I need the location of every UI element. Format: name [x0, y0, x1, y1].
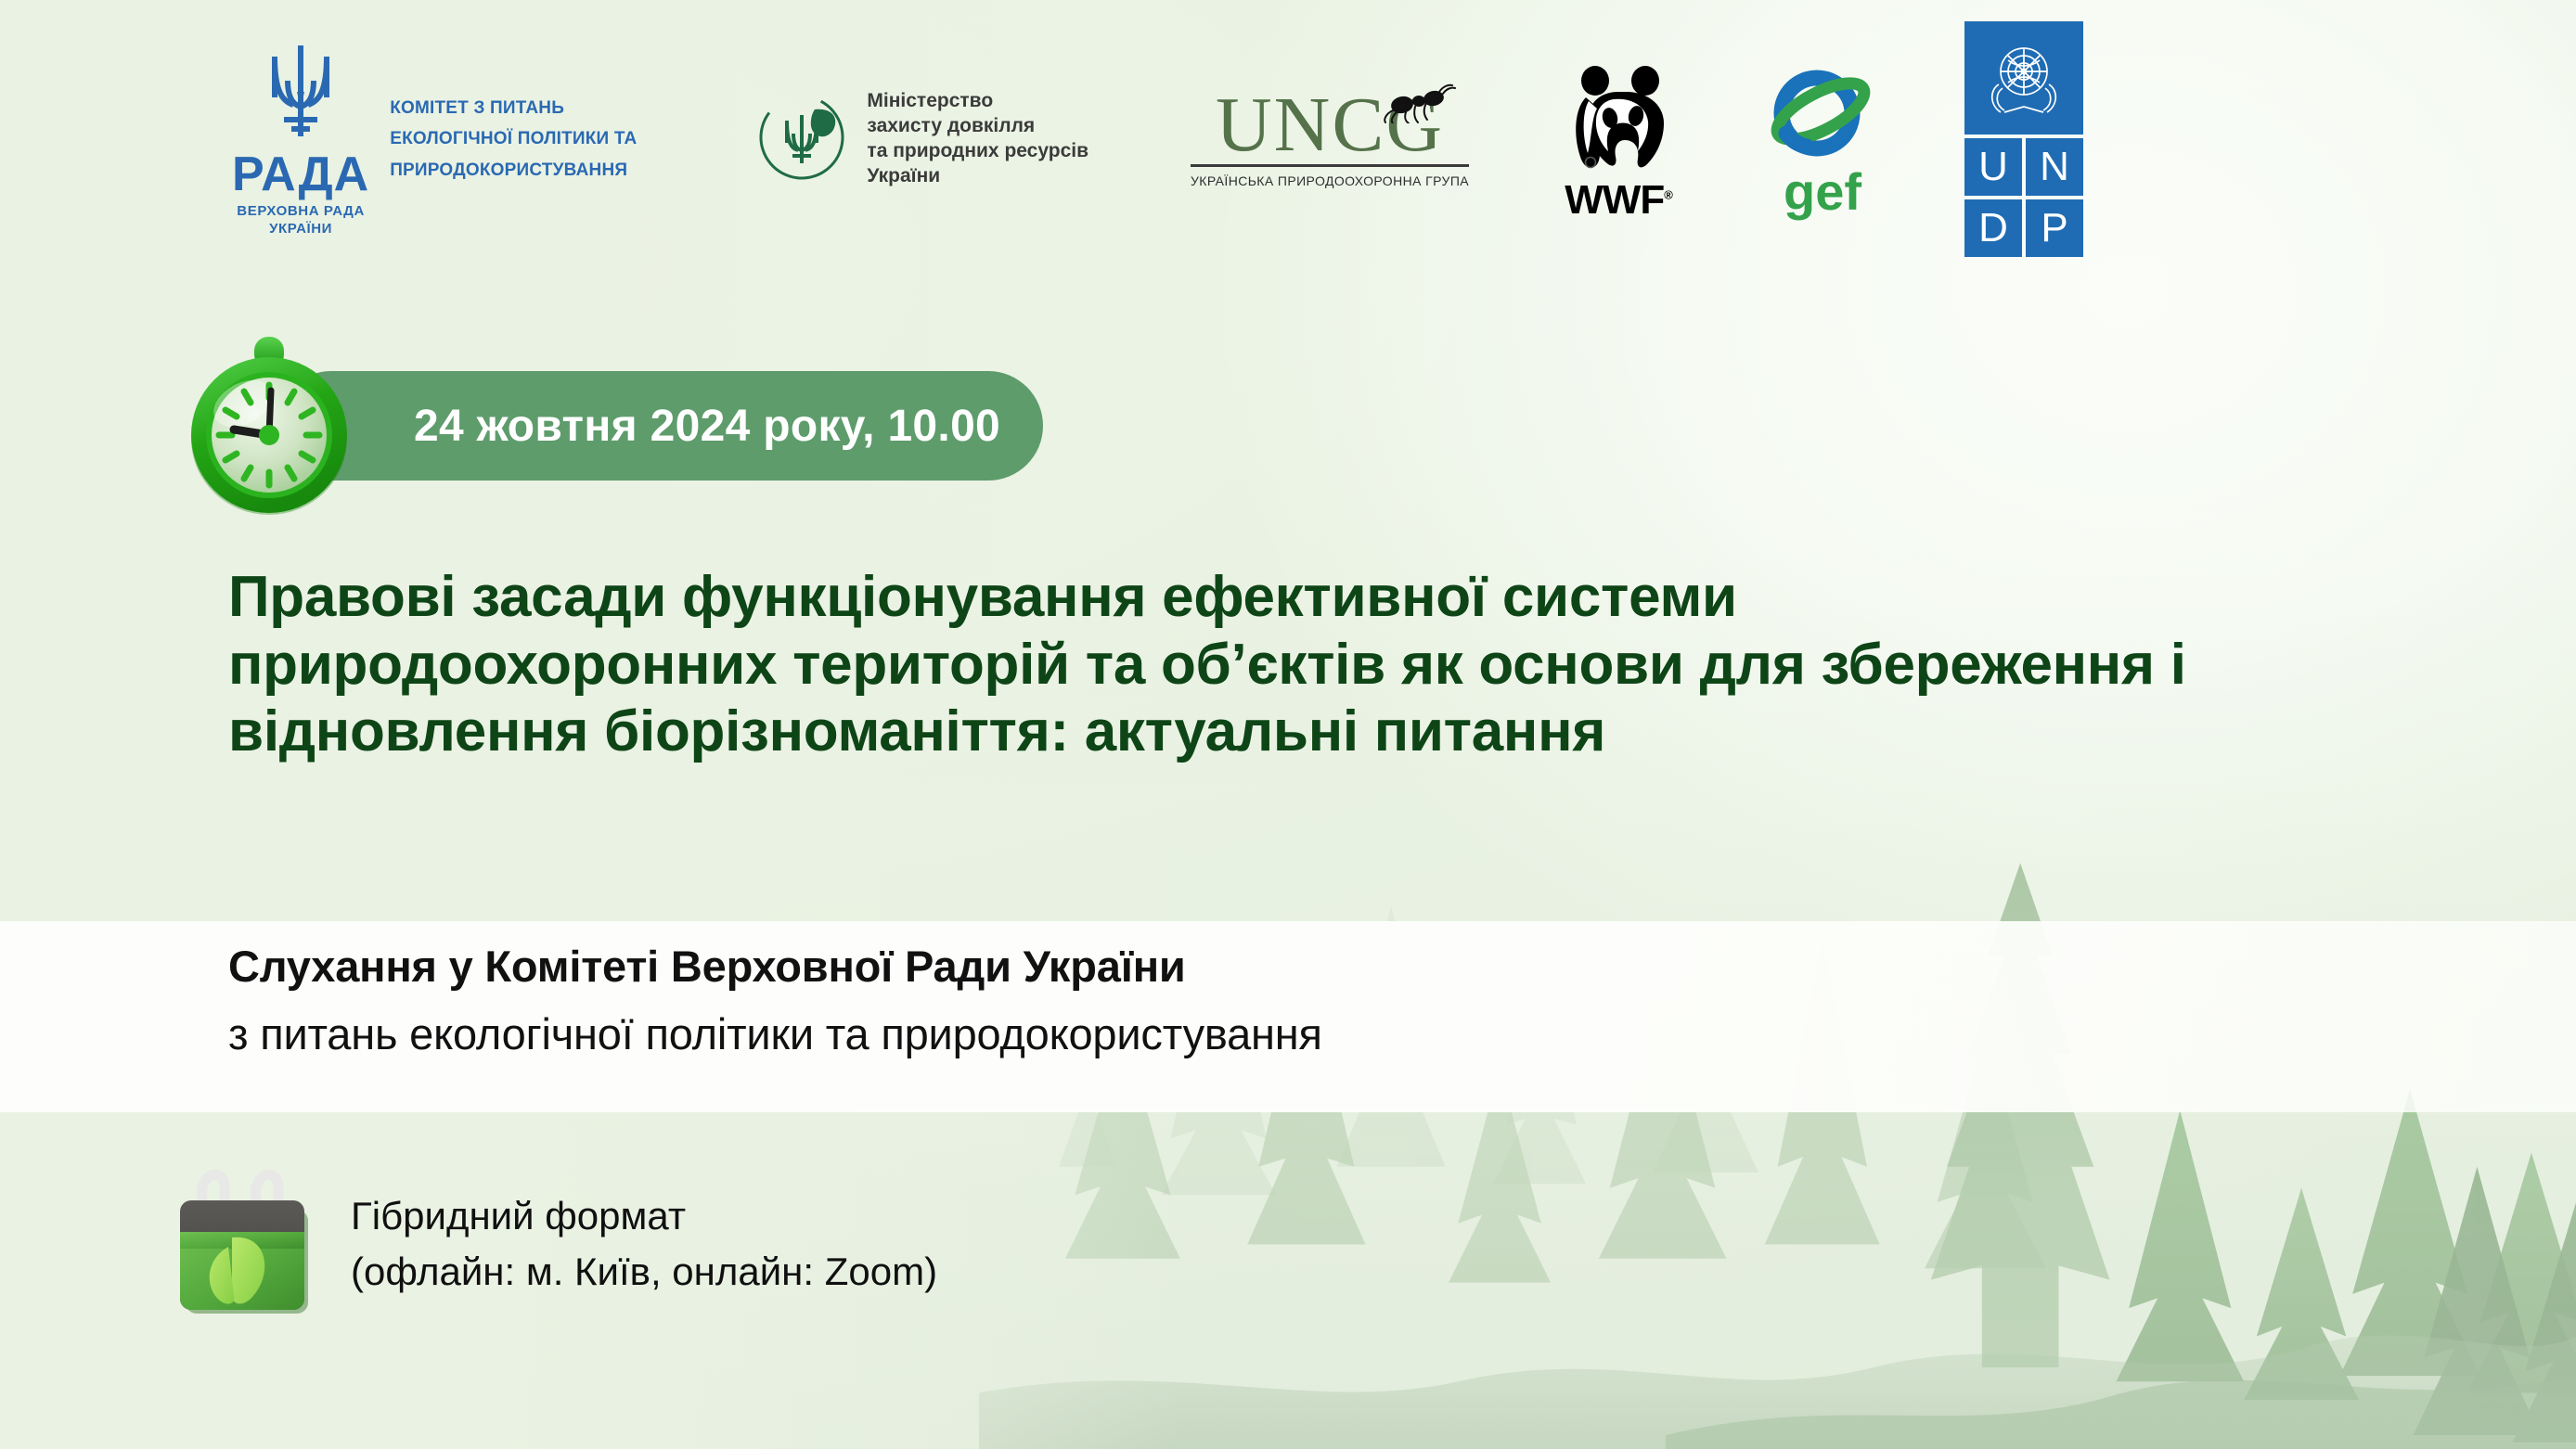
- undp-letter-d: D: [1964, 199, 2022, 257]
- ant-icon: [1378, 83, 1456, 128]
- rada-wordmark: РАДА: [232, 152, 369, 198]
- undp-letter-u: U: [1964, 138, 2022, 196]
- undp-letter-p: P: [2026, 199, 2083, 257]
- wwf-wordmark: WWF®: [1565, 182, 1672, 219]
- subtitle-line-2: з питань екологічної політики та природо…: [228, 1010, 2316, 1059]
- committee-name: КОМІТЕТ З ПИТАНЬ ЕКОЛОГІЧНОЇ ПОЛІТИКИ ТА…: [390, 93, 637, 186]
- undp-letter-n: N: [2026, 138, 2083, 196]
- page-title: Правові засади функціонування ефективної…: [228, 564, 2270, 766]
- logo-verkhovna-rada-committee: РАДА ВЕРХОВНА РАДА УКРАЇНИ КОМІТЕТ З ПИТ…: [232, 40, 637, 238]
- un-emblem-icon: [1964, 21, 2083, 135]
- forest-illustration: [979, 319, 2576, 1449]
- subtitle-line-1: Слухання у Комітеті Верховної Ради Украї…: [228, 942, 2316, 992]
- alarm-clock-icon: [173, 329, 366, 522]
- logo-ministry-of-environment: Міністерство захисту довкілля та природн…: [753, 89, 1088, 190]
- logo-wwf: WWF®: [1560, 60, 1677, 219]
- undp-letter-row-1: U N: [1964, 138, 2083, 196]
- format-info: Гібридний формат (офлайн: м. Київ, онлай…: [160, 1158, 937, 1330]
- logo-uncg: UNCG УКРАЇНСЬКА ПРИРОДООХОРОННА ГРУПА: [1191, 90, 1469, 188]
- ukrainian-trident-icon: [256, 40, 345, 148]
- logo-gef: gef: [1766, 65, 1879, 214]
- format-line-2: (офлайн: м. Київ, онлайн: Zoom): [351, 1244, 937, 1300]
- gef-wordmark: gef: [1784, 170, 1861, 214]
- partner-logo-strip: РАДА ВЕРХОВНА РАДА УКРАЇНИ КОМІТЕТ З ПИТ…: [0, 0, 2576, 278]
- format-line-1: Гібридний формат: [351, 1188, 937, 1244]
- logo-undp: U N D P: [1964, 21, 2083, 257]
- ministry-name: Міністерство захисту довкілля та природн…: [867, 89, 1088, 189]
- calendar-leaf-icon: [160, 1158, 325, 1330]
- poster-stage: РАДА ВЕРХОВНА РАДА УКРАЇНИ КОМІТЕТ З ПИТ…: [0, 0, 2576, 1449]
- date-badge: 24 жовтня 2024 року, 10.00: [173, 329, 1043, 522]
- uncg-tagline: УКРАЇНСЬКА ПРИРОДООХОРОННА ГРУПА: [1191, 173, 1469, 188]
- undp-letter-row-2: D P: [1964, 199, 2083, 257]
- subtitle: Слухання у Комітеті Верховної Ради Украї…: [228, 942, 2316, 1058]
- format-text: Гібридний формат (офлайн: м. Київ, онлай…: [351, 1188, 937, 1299]
- date-text: 24 жовтня 2024 року, 10.00: [414, 401, 1000, 452]
- date-pill: 24 жовтня 2024 року, 10.00: [277, 371, 1043, 481]
- panda-icon: [1560, 60, 1677, 180]
- uncg-divider: [1191, 164, 1469, 167]
- trident-in-circle-with-leaf-icon: [753, 89, 850, 190]
- globe-orbit-icon: [1766, 65, 1879, 173]
- rada-submark: ВЕРХОВНА РАДА УКРАЇНИ: [237, 203, 365, 238]
